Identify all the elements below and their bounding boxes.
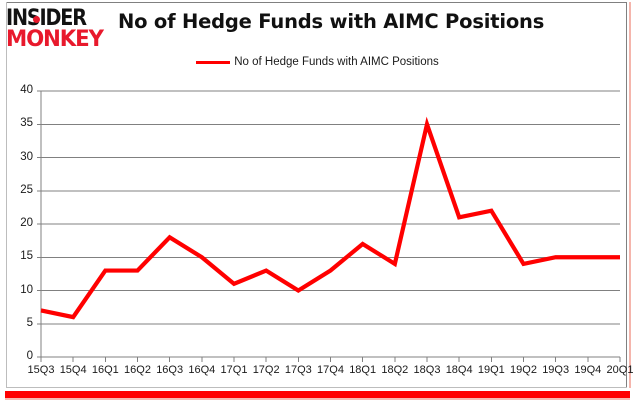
footer-accent-bar-shadow <box>5 398 630 400</box>
y-axis-tick-label: 20 <box>7 217 33 229</box>
x-axis-tick-label: 18Q4 <box>441 364 477 376</box>
x-axis-tick-label: 18Q1 <box>345 364 381 376</box>
y-axis-tick-label: 35 <box>7 117 33 129</box>
x-axis-tick-label: 19Q1 <box>473 364 509 376</box>
x-axis-tick-label: 15Q4 <box>55 364 91 376</box>
y-axis-tick-label: 40 <box>7 84 33 96</box>
x-axis-tick-label: 18Q3 <box>409 364 445 376</box>
x-axis-tick-label: 16Q4 <box>184 364 220 376</box>
y-axis-tick-label: 15 <box>7 250 33 262</box>
footer-accent-bar <box>5 391 630 398</box>
x-axis-tick-label: 17Q1 <box>216 364 252 376</box>
x-axis-tick-label: 19Q2 <box>506 364 542 376</box>
chart-plot-area: 051015202530354015Q315Q416Q116Q216Q316Q4… <box>0 0 635 405</box>
y-axis-tick-label: 10 <box>7 284 33 296</box>
y-axis-tick-label: 0 <box>7 350 33 362</box>
line-chart-svg <box>0 0 635 405</box>
x-axis-tick-label: 16Q2 <box>120 364 156 376</box>
x-axis-tick-label: 17Q4 <box>313 364 349 376</box>
x-axis-tick-label: 20Q1 <box>602 364 635 376</box>
y-axis-tick-label: 25 <box>7 184 33 196</box>
y-axis-tick-label: 5 <box>7 317 33 329</box>
x-axis-tick-label: 18Q2 <box>377 364 413 376</box>
x-axis-tick-label: 17Q3 <box>280 364 316 376</box>
chart-page: INSIDER MONKEY No of Hedge Funds with AI… <box>0 0 635 405</box>
x-axis-tick-label: 19Q3 <box>538 364 574 376</box>
x-axis-tick-label: 16Q1 <box>87 364 123 376</box>
x-axis-tick-label: 15Q3 <box>23 364 59 376</box>
data-series-line <box>41 124 620 317</box>
x-axis-tick-label: 19Q4 <box>570 364 606 376</box>
x-axis-tick-label: 17Q2 <box>248 364 284 376</box>
x-axis-tick-label: 16Q3 <box>152 364 188 376</box>
y-axis-tick-label: 30 <box>7 151 33 163</box>
